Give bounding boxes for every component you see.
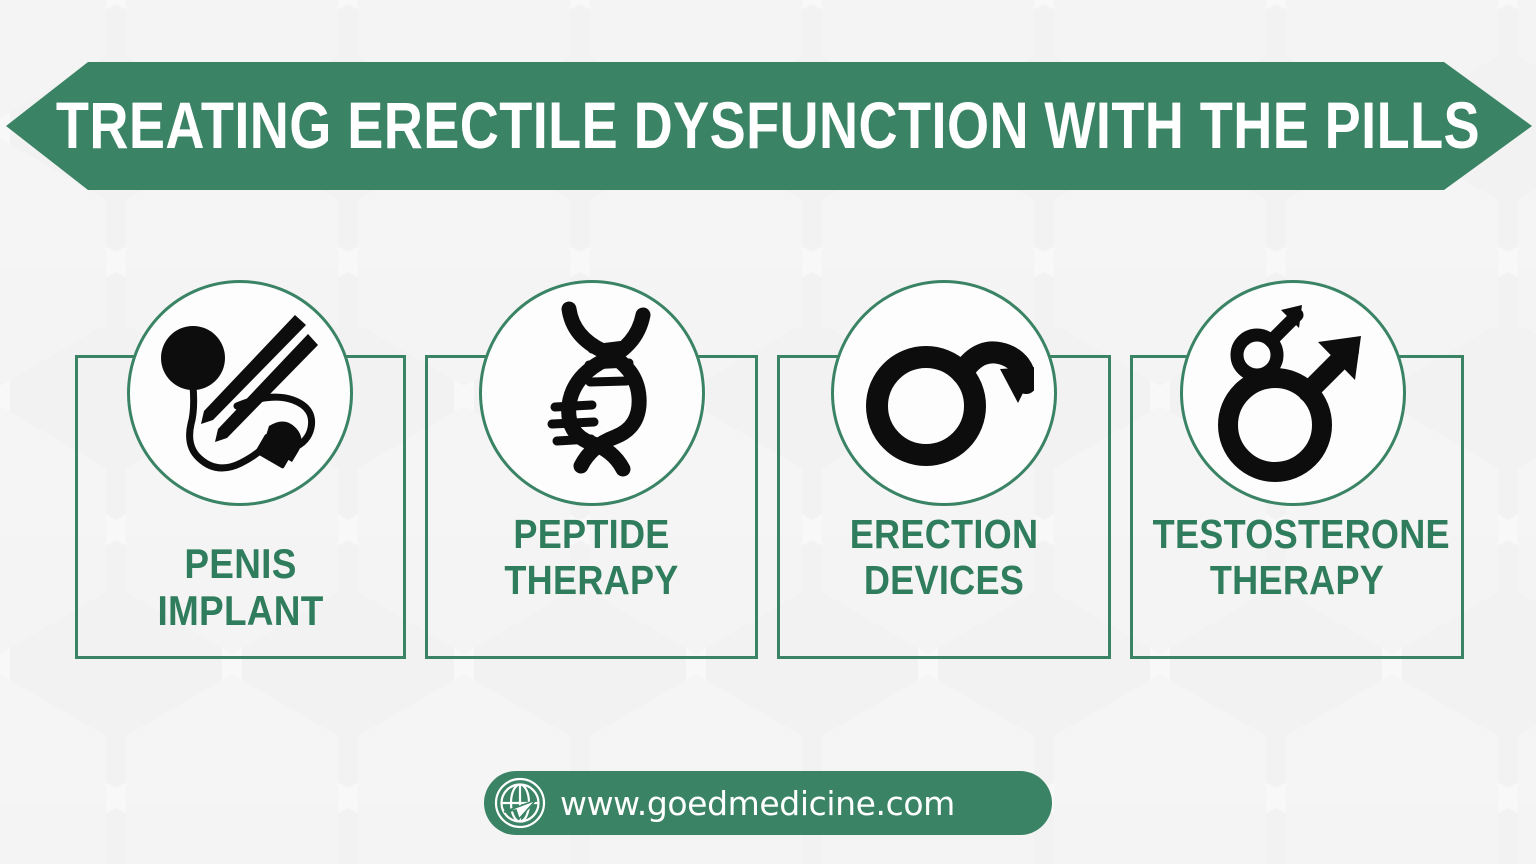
icon-circle-testosterone-therapy <box>1180 280 1406 506</box>
treatment-card-row: PENIS IMPLANT PEPTIDE THERAPY ERECTION D… <box>0 0 1536 864</box>
card-label-testosterone-therapy: TESTOSTERONE THERAPY <box>1153 512 1442 604</box>
penile-implant-icon <box>145 298 335 488</box>
card-label-peptide-therapy: PEPTIDE THERAPY <box>448 512 736 604</box>
double-male-symbol-icon <box>1203 298 1383 488</box>
card-label-penis-implant: PENIS IMPLANT <box>98 540 384 634</box>
icon-circle-penis-implant <box>127 280 353 506</box>
globe-icon <box>492 775 548 831</box>
footer-url-text: www.goedmedicine.com <box>560 784 955 823</box>
card-label-erection-devices: ERECTION DEVICES <box>800 512 1089 604</box>
dna-helix-icon <box>507 301 677 486</box>
footer-url-bar[interactable]: www.goedmedicine.com <box>484 771 1052 835</box>
icon-circle-peptide-therapy <box>479 280 705 506</box>
infographic-canvas: TREATING ERECTILE DYSFUNCTION WITH THE P… <box>0 0 1536 864</box>
male-symbol-arrow-icon <box>854 311 1034 476</box>
icon-circle-erection-devices <box>831 280 1057 506</box>
